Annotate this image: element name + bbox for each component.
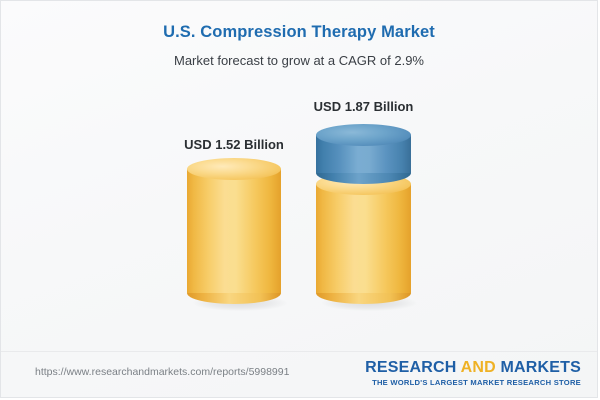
brand-logo[interactable]: RESEARCH AND MARKETS THE WORLD'S LARGEST… xyxy=(365,359,581,387)
chart-card: U.S. Compression Therapy Market Market f… xyxy=(0,0,598,398)
plot-area: USD 1.52 Billion 2023 USD 1.87 Billion xyxy=(1,1,597,353)
bar-segment-base-2023 xyxy=(187,158,281,304)
bar-cylinder-2023[interactable] xyxy=(187,158,281,304)
logo-tagline: THE WORLD'S LARGEST MARKET RESEARCH STOR… xyxy=(365,378,581,387)
logo-word-research: RESEARCH xyxy=(365,359,456,376)
logo-word-markets: MARKETS xyxy=(500,359,581,376)
bar-value-label-2023: USD 1.52 Billion xyxy=(184,137,284,152)
logo-word-and: AND xyxy=(461,359,496,376)
cylinder-body xyxy=(187,169,281,293)
report-url[interactable]: https://www.researchandmarkets.com/repor… xyxy=(35,366,289,378)
logo-wordmark: RESEARCH AND MARKETS xyxy=(365,359,581,377)
bar-cylinder-2030[interactable] xyxy=(316,124,411,304)
cylinder-body xyxy=(316,184,411,293)
cylinder-top-ellipse xyxy=(316,124,411,146)
footer: https://www.researchandmarkets.com/repor… xyxy=(1,351,597,397)
bar-value-label-2030: USD 1.87 Billion xyxy=(314,99,414,114)
cylinder-top-ellipse xyxy=(187,158,281,180)
bar-segment-base-2030 xyxy=(316,173,411,304)
bar-segment-growth-2030 xyxy=(316,124,411,184)
